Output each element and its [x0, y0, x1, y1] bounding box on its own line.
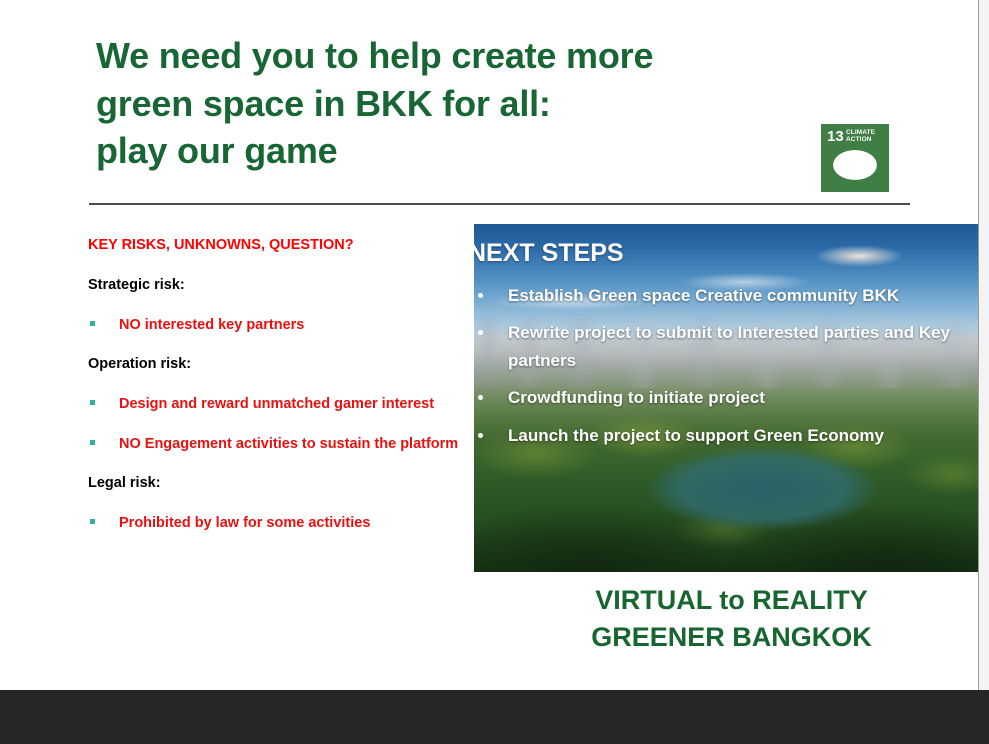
key-risks-section: KEY RISKS, UNKNOWNS, QUESTION? Strategic… — [88, 236, 468, 552]
next-steps-photo-panel: NEXT STEPS Establish Green space Creativ… — [474, 224, 978, 572]
list-item: Rewrite project to submit to Interested … — [474, 319, 978, 374]
bullet-icon — [478, 293, 483, 298]
eye-globe-icon — [833, 150, 877, 180]
bottom-bar — [0, 690, 989, 744]
list-item: Prohibited by law for some activities — [88, 512, 468, 534]
risk-category-operation: Operation risk: — [88, 355, 468, 373]
sdg-number: 13 — [827, 129, 844, 144]
risk-category-legal: Legal risk: — [88, 474, 468, 492]
list-item: Design and reward unmatched gamer intere… — [88, 393, 468, 415]
sdg-13-climate-action-badge: 13 CLIMATE ACTION — [821, 124, 889, 192]
next-steps-heading: NEXT STEPS — [474, 240, 978, 268]
bullet-icon — [90, 321, 95, 326]
tagline-line-1: VIRTUAL to REALITY — [474, 582, 978, 619]
risk-item-text: Prohibited by law for some activities — [119, 515, 370, 531]
next-step-text: Rewrite project to submit to Interested … — [508, 323, 950, 370]
bullet-icon — [90, 400, 95, 405]
bullet-icon — [90, 440, 95, 445]
title-line-3: play our game — [96, 127, 856, 175]
sdg-caption-line-2: ACTION — [846, 136, 875, 143]
title-line-1: We need you to help create more — [96, 32, 856, 80]
next-step-text: Crowdfunding to initiate project — [508, 388, 765, 407]
risk-item-text: NO interested key partners — [119, 317, 304, 333]
page-title: We need you to help create more green sp… — [96, 32, 856, 175]
bullet-icon — [478, 433, 483, 438]
list-item: Launch the project to support Green Econ… — [474, 422, 978, 450]
bullet-icon — [478, 395, 483, 400]
list-item: NO interested key partners — [88, 314, 468, 336]
risk-item-text: Design and reward unmatched gamer intere… — [119, 396, 434, 412]
next-step-text: Launch the project to support Green Econ… — [508, 426, 884, 445]
title-divider — [89, 203, 910, 205]
slide-canvas: We need you to help create more green sp… — [0, 0, 978, 690]
risk-category-strategic: Strategic risk: — [88, 276, 468, 294]
list-item: NO Engagement activities to sustain the … — [88, 433, 468, 455]
list-item: Establish Green space Creative community… — [474, 282, 978, 310]
sdg-caption: CLIMATE ACTION — [846, 129, 875, 144]
tagline-line-2: GREENER BANGKOK — [474, 619, 978, 656]
next-steps-overlay: NEXT STEPS Establish Green space Creativ… — [474, 240, 978, 459]
right-gutter — [978, 0, 989, 690]
key-risks-heading: KEY RISKS, UNKNOWNS, QUESTION? — [88, 236, 468, 254]
bullet-icon — [90, 519, 95, 524]
globe-icon — [857, 180, 878, 192]
bullet-icon — [478, 330, 483, 335]
next-step-text: Establish Green space Creative community… — [508, 286, 899, 305]
sdg-caption-line-1: CLIMATE — [846, 129, 875, 136]
title-line-2: green space in BKK for all: — [96, 80, 856, 128]
list-item: Crowdfunding to initiate project — [474, 384, 978, 412]
risk-item-text: NO Engagement activities to sustain the … — [119, 436, 458, 452]
tagline: VIRTUAL to REALITY GREENER BANGKOK — [474, 582, 978, 655]
